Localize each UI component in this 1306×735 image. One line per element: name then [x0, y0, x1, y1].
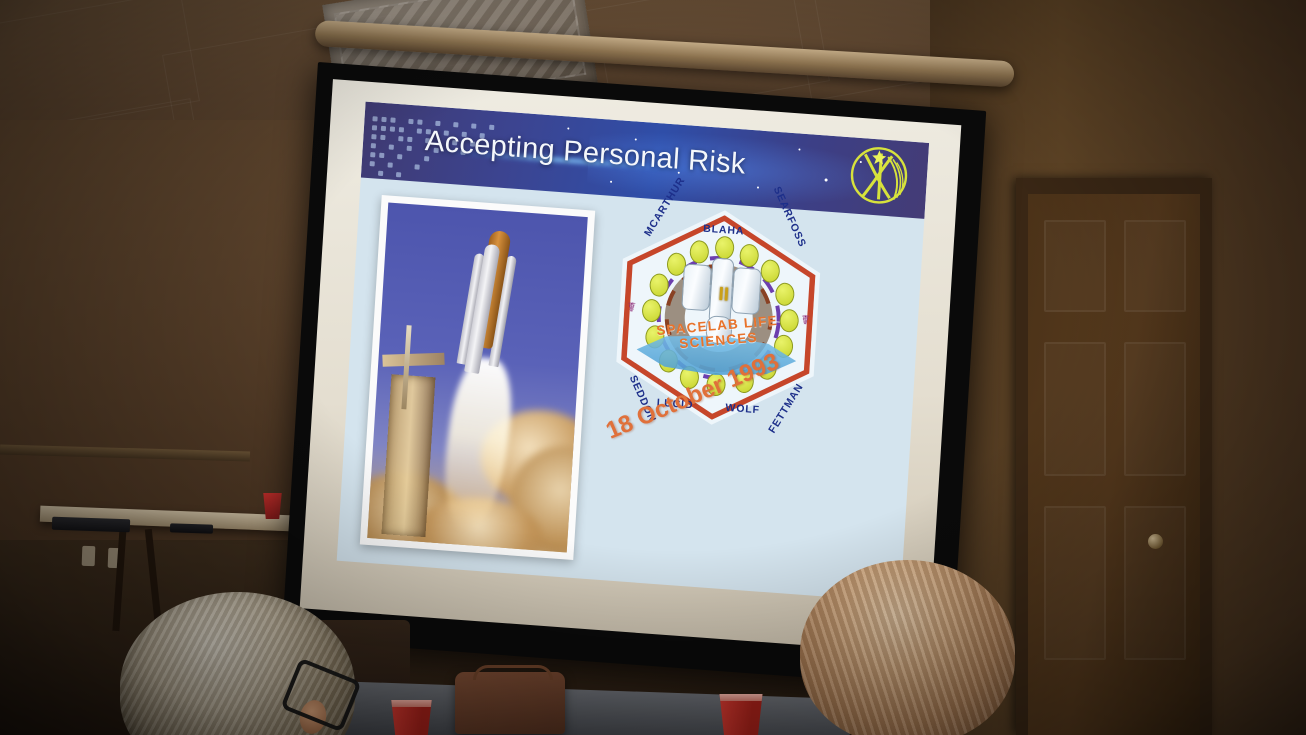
- shuttle-launch-photo: [367, 203, 588, 553]
- door-panel: [1124, 342, 1186, 476]
- presentation-slide: Accepting Personal Risk: [337, 102, 929, 602]
- phone[interactable]: [170, 523, 213, 533]
- bag[interactable]: [455, 672, 565, 734]
- door-panel: [1044, 506, 1106, 660]
- red-cup-right[interactable]: [716, 694, 766, 735]
- six-panel-door[interactable]: [1028, 194, 1200, 735]
- door-panel: [1044, 220, 1106, 312]
- roman-numeral: II: [714, 283, 732, 308]
- laptop[interactable]: [52, 517, 130, 533]
- red-cup-left[interactable]: [388, 700, 435, 735]
- door-knob-icon[interactable]: [1148, 534, 1163, 549]
- viewer-right-head: [800, 560, 1015, 735]
- door-panel: [1124, 506, 1186, 660]
- caduceus-icon-right: ☤: [801, 312, 811, 329]
- crew-name-wolf: WOLF: [725, 402, 760, 417]
- wall-outlet-icon: [82, 546, 96, 566]
- door-panel: [1124, 220, 1186, 312]
- program-logo-icon: [845, 141, 913, 210]
- door-panel: [1044, 342, 1106, 476]
- room-scene: Accepting Personal Risk: [0, 0, 1306, 735]
- shuttle-photo-frame: [360, 195, 595, 560]
- caduceus-icon-left: ☤: [627, 299, 637, 316]
